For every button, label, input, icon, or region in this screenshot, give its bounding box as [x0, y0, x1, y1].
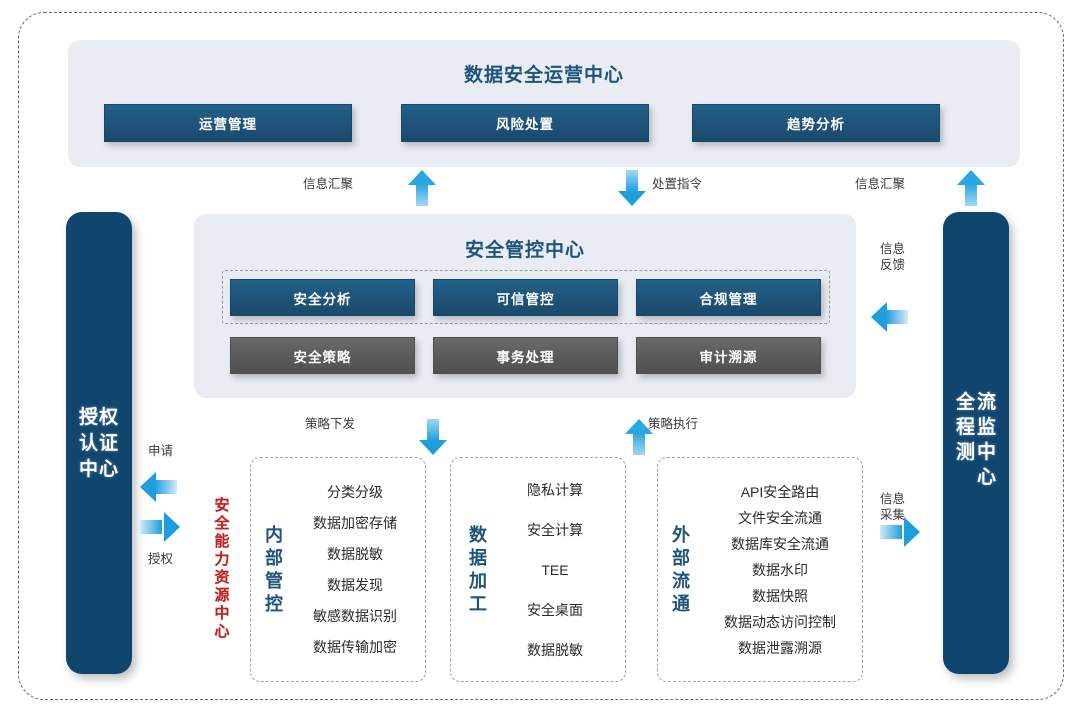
capability-item: 数据脱敏 — [527, 643, 583, 657]
arrow-left-apply — [140, 472, 180, 502]
top-box-operation-management[interactable]: 运营管理 — [104, 104, 352, 142]
capability-item: 数据发现 — [327, 578, 383, 592]
label-authorize: 授权 — [148, 551, 173, 567]
top-box-risk-disposal[interactable]: 风险处置 — [401, 104, 649, 142]
arrow-up-info-aggregate-right — [957, 170, 985, 206]
mid-box-audit-traceability[interactable]: 审计溯源 — [636, 337, 821, 374]
red-label-char: 力 — [214, 551, 229, 569]
top-box-trend-analysis[interactable]: 趋势分析 — [692, 104, 940, 142]
capability-item: 数据加密存储 — [313, 516, 397, 530]
capability-item: 敏感数据识别 — [313, 609, 397, 623]
pillar-right-char: 全 — [956, 390, 975, 415]
capability-item: 安全桌面 — [527, 603, 583, 617]
capability-item: 数据快照 — [752, 589, 808, 603]
capability-item: 文件安全流通 — [738, 511, 822, 525]
mid-box-label: 安全分析 — [294, 288, 352, 308]
capability-label-char: 据 — [469, 547, 487, 570]
label-apply: 申请 — [148, 443, 173, 459]
capability-item: 数据泄露溯源 — [738, 641, 822, 655]
pillar-right-col-right: 流 监 中 心 — [977, 390, 996, 490]
capability-item: 数据脱敏 — [327, 547, 383, 561]
capability-label-char: 通 — [672, 593, 690, 616]
arrow-left-info-feedback — [871, 302, 911, 332]
pillar-right-char: 程 — [956, 415, 975, 440]
capability-items-data-processing: 隐私计算 安全计算 TEE 安全桌面 数据脱敏 — [491, 458, 619, 681]
capability-label-char: 管 — [265, 570, 283, 593]
arrow-down-policy-issue — [419, 419, 447, 455]
capability-label-external-circulation: 外 部 流 通 — [668, 458, 694, 681]
capability-label-char: 数 — [469, 524, 487, 547]
pillar-full-process-monitoring-center[interactable]: 流 监 中 心 全 程 测 — [943, 212, 1009, 674]
mid-box-label: 安全策略 — [294, 346, 352, 366]
capability-item: 隐私计算 — [527, 483, 583, 497]
label-policy-issue: 策略下发 — [305, 416, 355, 432]
capability-item: 数据传输加密 — [313, 640, 397, 654]
red-label-char: 安 — [214, 497, 229, 515]
capability-panel-external-circulation[interactable]: 外 部 流 通 API安全路由 文件安全流通 数据库安全流通 数据水印 数据快照… — [657, 457, 863, 682]
arrow-down-dispose-command — [618, 170, 646, 206]
red-label-char: 源 — [214, 587, 229, 605]
capability-item: TEE — [541, 563, 568, 577]
pillar-right-char: 中 — [977, 440, 996, 465]
mid-box-label: 事务处理 — [497, 346, 555, 366]
capability-label-char: 部 — [265, 547, 283, 570]
arrow-right-info-collect — [880, 517, 920, 547]
pillar-right-columns: 流 监 中 心 全 程 测 — [943, 390, 1009, 490]
red-label-char: 心 — [214, 623, 229, 641]
capability-item: 安全计算 — [527, 523, 583, 537]
capability-label-char: 加 — [469, 570, 487, 593]
capability-items-external-circulation: API安全路由 文件安全流通 数据库安全流通 数据水印 数据快照 数据动态访问控… — [704, 458, 856, 681]
pillar-right-char: 心 — [977, 465, 996, 490]
arrow-right-authorize — [140, 512, 180, 542]
mid-box-transaction-processing[interactable]: 事务处理 — [433, 337, 618, 374]
capability-item: 数据水印 — [752, 563, 808, 577]
label-info-aggregate-right: 信息汇聚 — [855, 176, 905, 192]
pillar-right-char: 监 — [977, 415, 996, 440]
capability-item: 分类分级 — [327, 485, 383, 499]
pillar-right-char: 测 — [956, 440, 975, 465]
label-info-feedback-line1: 信息 — [880, 241, 905, 257]
capability-label-char: 流 — [672, 570, 690, 593]
top-section-title: 数据安全运营中心 — [68, 60, 1020, 87]
pillar-left-line1: 授权 — [66, 405, 132, 431]
top-box-label: 运营管理 — [199, 113, 257, 133]
pillar-right-col-left: 全 程 测 — [956, 390, 975, 490]
mid-box-security-policy[interactable]: 安全策略 — [230, 337, 415, 374]
red-label-char: 全 — [214, 515, 229, 533]
capability-label-char: 控 — [265, 593, 283, 616]
label-security-capability-resource-center: 安 全 能 力 资 源 中 心 — [212, 497, 232, 641]
red-label-char: 资 — [214, 569, 229, 587]
capability-label-internal-control: 内 部 管 控 — [261, 458, 287, 681]
arrow-up-info-aggregate-left — [408, 170, 436, 206]
capability-label-data-processing: 数 据 加 工 — [465, 458, 491, 681]
pillar-authorization-certification-center[interactable]: 授权 认证 中心 — [66, 212, 132, 674]
capability-item: 数据库安全流通 — [731, 537, 829, 551]
capability-label-char: 内 — [265, 524, 283, 547]
label-dispose-command: 处置指令 — [652, 176, 702, 192]
capability-label-char: 工 — [469, 593, 487, 616]
mid-box-label: 可信管控 — [497, 288, 555, 308]
label-info-aggregate-left: 信息汇聚 — [303, 176, 353, 192]
capability-items-internal-control: 分类分级 数据加密存储 数据脱敏 数据发现 敏感数据识别 数据传输加密 — [291, 458, 419, 681]
capability-label-char: 外 — [672, 524, 690, 547]
mid-box-trusted-control[interactable]: 可信管控 — [433, 279, 618, 316]
capability-item: 数据动态访问控制 — [724, 615, 836, 629]
label-info-feedback: 信息 反馈 — [880, 241, 905, 273]
capability-panel-internal-control[interactable]: 内 部 管 控 分类分级 数据加密存储 数据脱敏 数据发现 敏感数据识别 数据传… — [250, 457, 426, 682]
capability-item: API安全路由 — [741, 485, 820, 499]
top-box-label: 风险处置 — [496, 113, 554, 133]
mid-box-compliance-management[interactable]: 合规管理 — [636, 279, 821, 316]
label-info-feedback-line2: 反馈 — [880, 257, 905, 273]
top-box-label: 趋势分析 — [787, 113, 845, 133]
capability-panel-data-processing[interactable]: 数 据 加 工 隐私计算 安全计算 TEE 安全桌面 数据脱敏 — [450, 457, 626, 682]
pillar-left-line3: 中心 — [66, 457, 132, 483]
mid-box-label: 审计溯源 — [700, 346, 758, 366]
mid-section-title: 安全管控中心 — [194, 235, 856, 262]
mid-box-security-analysis[interactable]: 安全分析 — [230, 279, 415, 316]
red-label-char: 中 — [214, 605, 229, 623]
capability-label-char: 部 — [672, 547, 690, 570]
pillar-left-line2: 认证 — [66, 431, 132, 457]
mid-box-label: 合规管理 — [700, 288, 758, 308]
label-policy-execute: 策略执行 — [648, 416, 698, 432]
label-info-collect-line1: 信息 — [880, 491, 905, 507]
red-label-char: 能 — [214, 533, 229, 551]
pillar-right-char: 流 — [977, 390, 996, 415]
